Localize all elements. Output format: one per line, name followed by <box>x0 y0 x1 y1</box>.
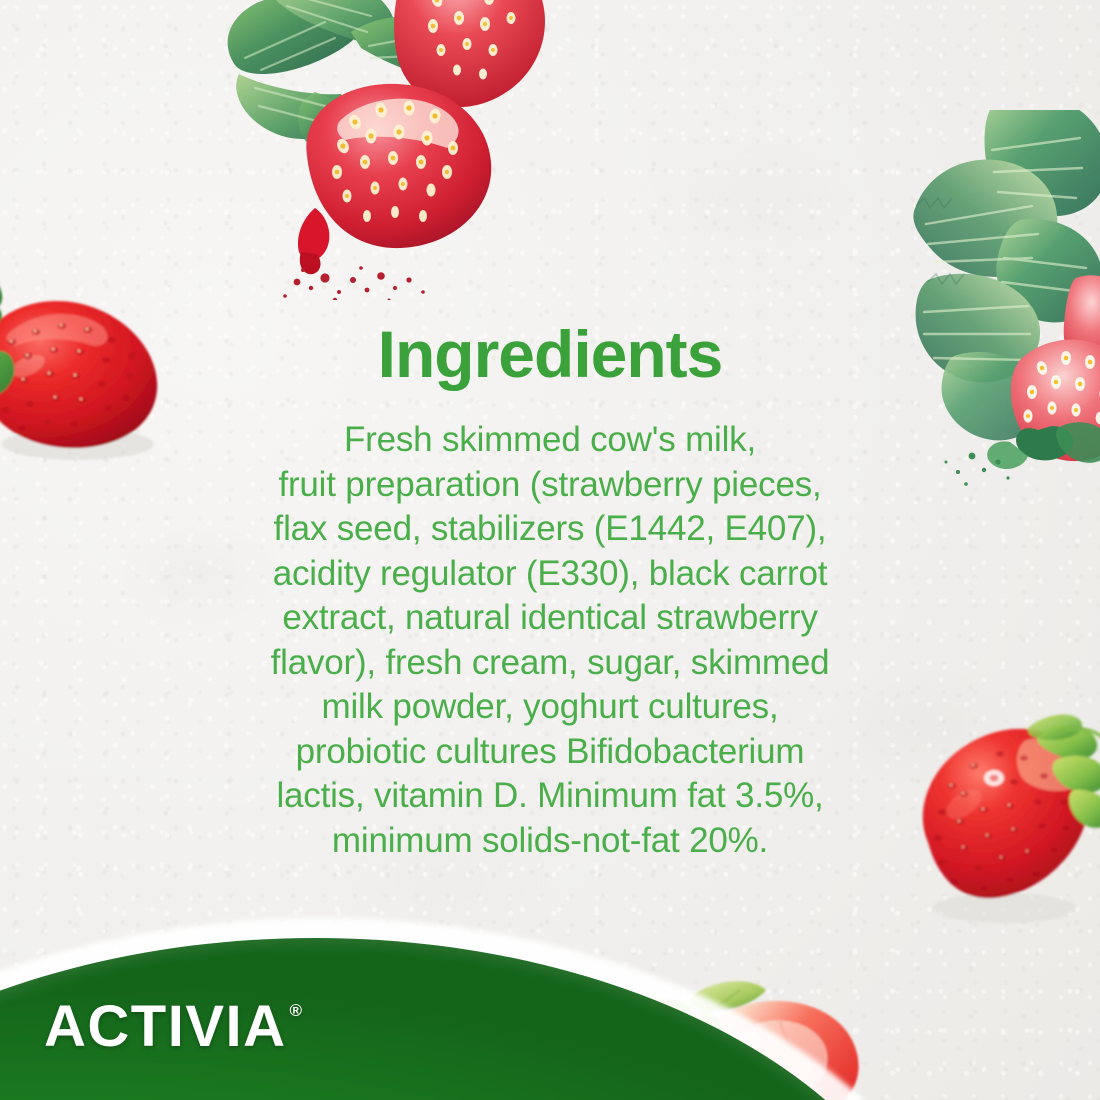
brand-banner: ACTIVIA ® <box>0 900 1100 1100</box>
ingredients-card: Ingredients Fresh skimmed cow's milk, fr… <box>0 0 1100 1100</box>
ingredients-line: probiotic cultures Bifidobacterium <box>180 730 920 775</box>
page-title: Ingredients <box>0 318 1100 390</box>
ingredients-line: lactis, vitamin D. Minimum fat 3.5%, <box>180 774 920 819</box>
ingredients-line: extract, natural identical strawberry <box>180 596 920 641</box>
ingredients-line: acidity regulator (E330), black carrot <box>180 552 920 597</box>
registered-trademark-icon: ® <box>290 1002 304 1019</box>
ingredients-line: flavor), fresh cream, sugar, skimmed <box>180 641 920 686</box>
ingredients-line: milk powder, yoghurt cultures, <box>180 685 920 730</box>
ingredients-line: fruit preparation (strawberry pieces, <box>180 463 920 508</box>
ingredients-line: flax seed, stabilizers (E1442, E407), <box>180 507 920 552</box>
ingredients-line: minimum solids-not-fat 20%. <box>180 819 920 864</box>
ingredients-line: Fresh skimmed cow's milk, <box>180 418 920 463</box>
activia-logo: ACTIVIA ® <box>44 998 304 1056</box>
activia-logo-text: ACTIVIA <box>44 998 287 1056</box>
ingredients-text: Fresh skimmed cow's milk, fruit preparat… <box>180 418 920 863</box>
